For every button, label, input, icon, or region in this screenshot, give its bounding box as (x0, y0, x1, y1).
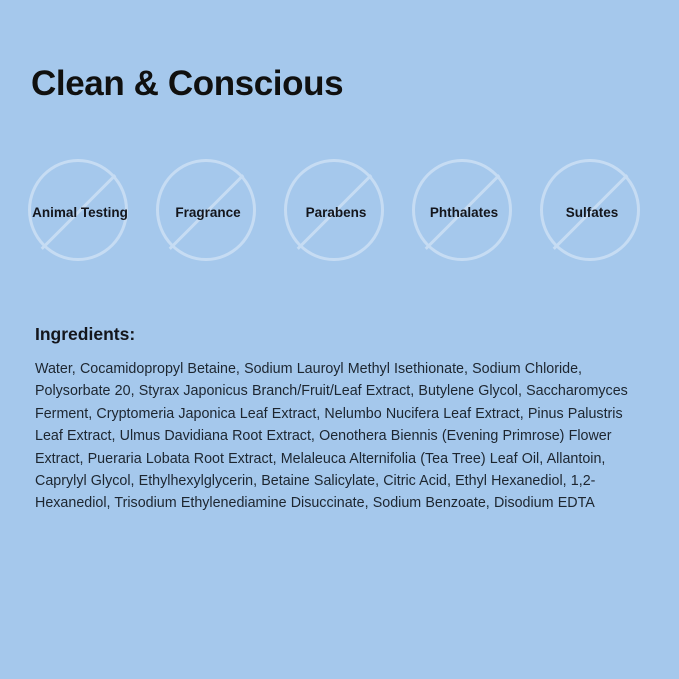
badge-sulfates: Sulfates (539, 158, 645, 266)
badge-label: Animal Testing (9, 158, 151, 266)
free-from-badge-row: Animal Testing Fragrance Parabens Phthal… (0, 158, 679, 270)
badge-label: Phthalates (393, 158, 535, 266)
badge-label: Parabens (265, 158, 407, 266)
ingredients-list: Water, Cocamidopropyl Betaine, Sodium La… (35, 358, 649, 515)
badge-label: Fragrance (137, 158, 279, 266)
product-info-panel: Clean & Conscious Animal Testing Fragran… (0, 0, 679, 679)
ingredients-heading: Ingredients: (35, 324, 135, 345)
badge-animal-testing: Animal Testing (27, 158, 133, 266)
badge-label: Sulfates (521, 158, 663, 266)
badge-parabens: Parabens (283, 158, 389, 266)
badge-phthalates: Phthalates (411, 158, 517, 266)
badge-fragrance: Fragrance (155, 158, 261, 266)
page-title: Clean & Conscious (31, 64, 343, 104)
